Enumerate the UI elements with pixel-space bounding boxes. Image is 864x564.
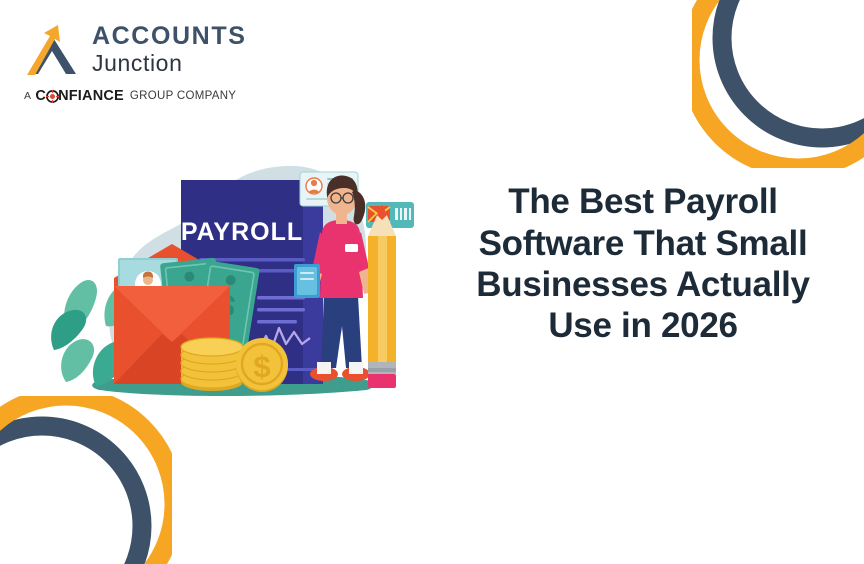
clipboard — [294, 264, 320, 298]
tagline-brand-after: NFIANCE — [58, 88, 124, 104]
logo-tagline: A C NFIANCE GROUP COMPANY — [24, 88, 236, 104]
corner-arcs-bottom-left-icon — [0, 396, 172, 564]
brand-logo[interactable]: ACCOUNTS Junction A C NFIANCE GROUP COMP… — [22, 16, 262, 102]
logo-secondary-text: Junction — [92, 51, 246, 76]
tagline-prefix: A — [24, 90, 31, 102]
svg-text:$: $ — [253, 349, 270, 384]
bottom-left-corner-decoration — [0, 396, 172, 564]
payroll-illustration-graphic: PAYROLL — [36, 136, 416, 408]
logo-mark-icon — [22, 20, 84, 82]
tagline-suffix: GROUP COMPANY — [130, 90, 236, 102]
big-coin: $ — [236, 338, 288, 392]
page-title: The Best Payroll Software That Small Bus… — [444, 181, 842, 346]
banner-canvas: ACCOUNTS Junction A C NFIANCE GROUP COMP… — [0, 0, 864, 564]
svg-text:PAYROLL: PAYROLL — [181, 218, 303, 246]
corner-arcs-top-right-icon — [692, 0, 864, 168]
tagline-brand-before: C — [35, 88, 46, 104]
logo-wordmark: ACCOUNTS Junction — [92, 24, 246, 76]
confiance-o-target-icon — [46, 90, 59, 103]
top-right-corner-decoration — [692, 0, 864, 168]
coin-stack: $ — [181, 338, 288, 392]
payroll-illustration: PAYROLL — [36, 136, 416, 408]
pencil-icon — [368, 204, 396, 388]
logo-primary-text: ACCOUNTS — [92, 24, 246, 50]
coin-column — [181, 338, 243, 391]
